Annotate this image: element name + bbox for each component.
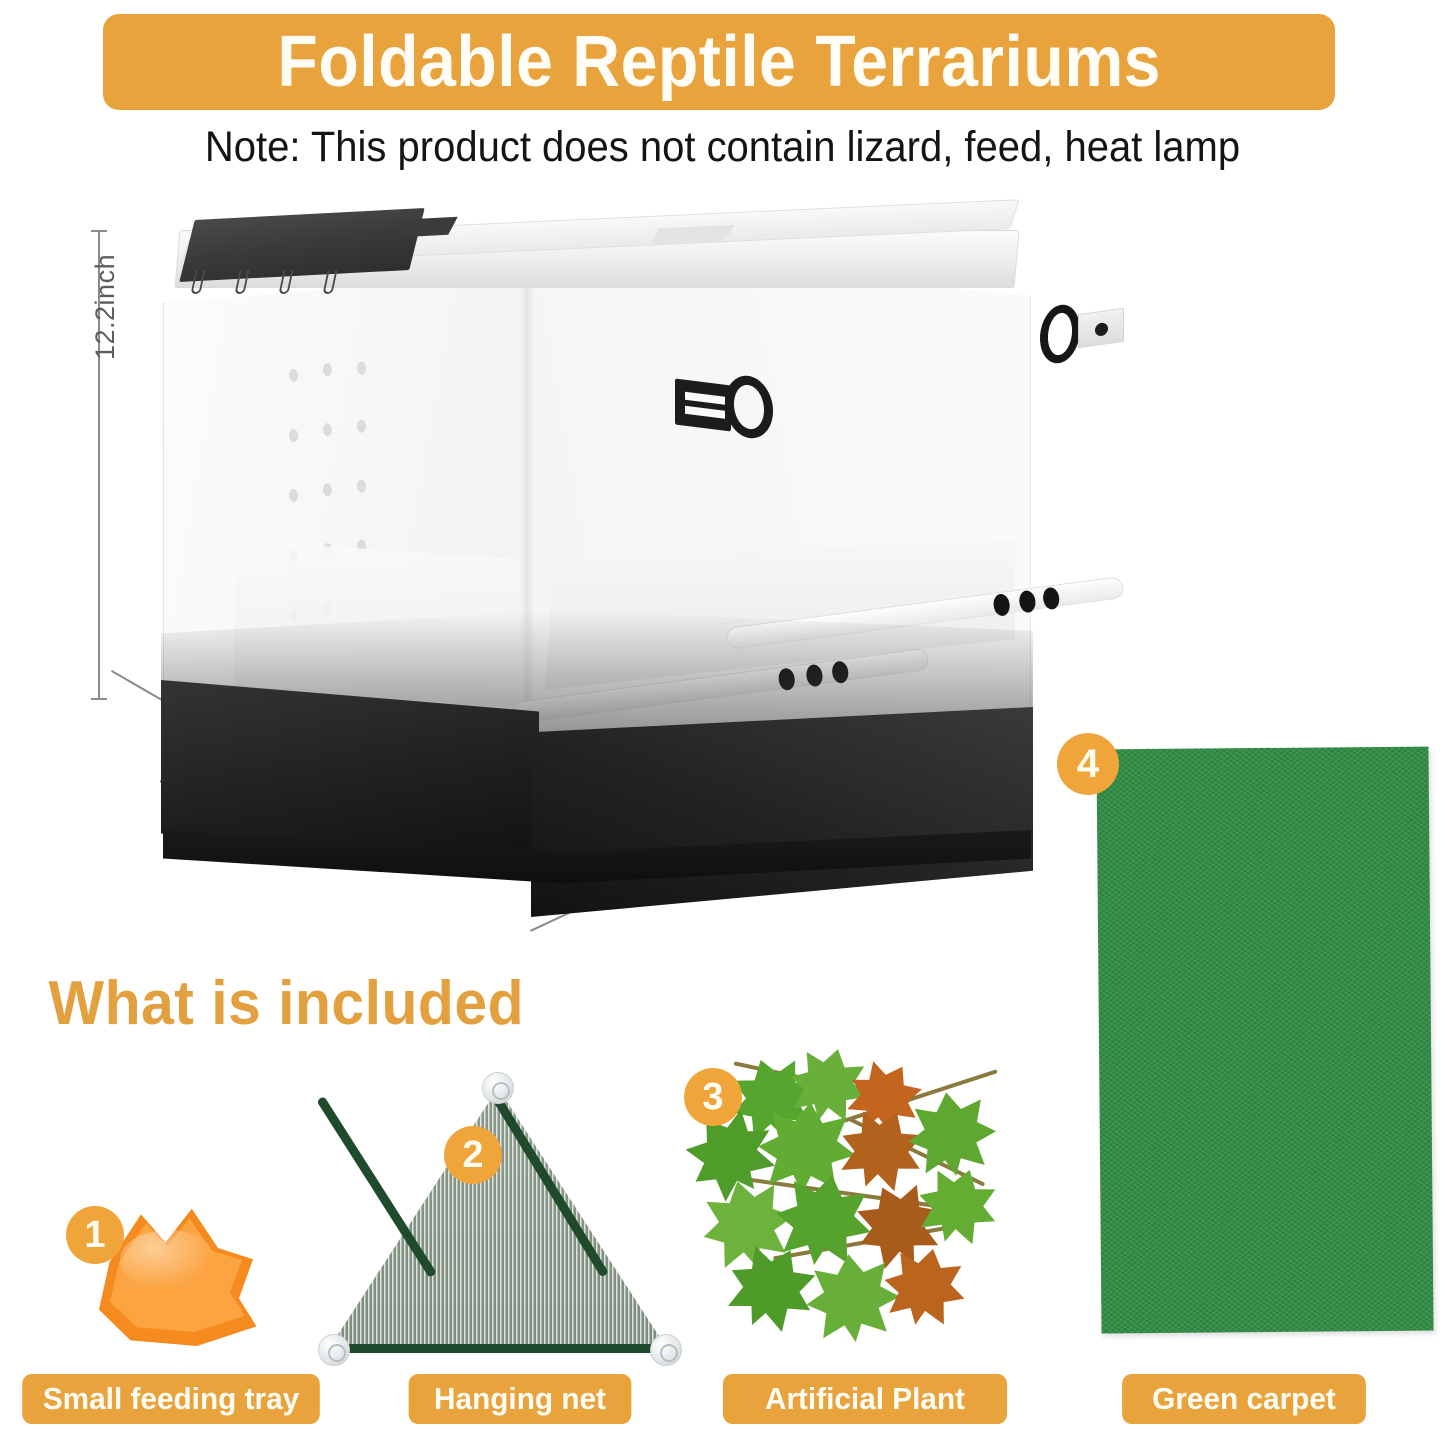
badge-3: 3 xyxy=(684,1068,742,1126)
badge-1-number: 1 xyxy=(84,1216,105,1254)
page-title: Foldable Reptile Terrariums xyxy=(277,26,1161,98)
hanging-net-item xyxy=(328,1078,688,1368)
included-section-heading: What is included xyxy=(49,968,525,1039)
lid-notch xyxy=(649,225,735,245)
lid-hinge-teeth xyxy=(193,270,383,296)
net-edge-bottom xyxy=(330,1344,668,1353)
caption-label: Artificial Plant xyxy=(765,1381,965,1417)
tray-highlight xyxy=(120,1230,216,1290)
caption-small-feeding-tray: Small feeding tray xyxy=(22,1374,320,1424)
badge-2-number: 2 xyxy=(462,1136,483,1174)
terrarium-body xyxy=(115,210,1075,940)
net-mesh xyxy=(328,1088,668,1350)
page-title-banner: Foldable Reptile Terrariums xyxy=(103,14,1335,110)
caption-label: Hanging net xyxy=(434,1381,606,1417)
terrarium-corner-edge xyxy=(519,254,535,755)
caption-label: Green carpet xyxy=(1152,1381,1336,1417)
terrarium-inner-wall xyxy=(235,540,535,710)
badge-4-number: 4 xyxy=(1077,744,1099,784)
suction-cup-bottom-right xyxy=(650,1334,682,1366)
badge-1: 1 xyxy=(66,1206,124,1264)
green-carpet-item xyxy=(1096,747,1433,1334)
infographic-page: Foldable Reptile Terrariums Note: This p… xyxy=(0,0,1445,1429)
latch-plate-icon xyxy=(1078,308,1124,348)
height-tick-bottom xyxy=(91,698,107,700)
caption-artificial-plant: Artificial Plant xyxy=(723,1374,1007,1424)
badge-2: 2 xyxy=(444,1126,502,1184)
badge-3-number: 3 xyxy=(702,1078,723,1116)
suction-cup-top xyxy=(482,1072,514,1104)
front-latch-handle xyxy=(675,370,825,438)
caption-green-carpet: Green carpet xyxy=(1122,1374,1366,1424)
suction-cup-bottom-left xyxy=(318,1334,350,1366)
latch-ring-small-icon xyxy=(1038,303,1082,364)
product-note: Note: This product does not contain liza… xyxy=(51,126,1395,169)
latch-bar-icon xyxy=(675,379,731,432)
terrarium-base-front xyxy=(531,707,1033,917)
caption-label: Small feeding tray xyxy=(43,1381,299,1417)
badge-4: 4 xyxy=(1057,733,1119,795)
height-tick-top xyxy=(91,230,107,232)
product-hero-image: 12.2inch 12.6inch 21.7inch xyxy=(60,200,1070,970)
caption-hanging-net: Hanging net xyxy=(409,1374,632,1424)
net-edge-left xyxy=(316,1096,436,1278)
side-latch-handle xyxy=(1040,305,1160,367)
